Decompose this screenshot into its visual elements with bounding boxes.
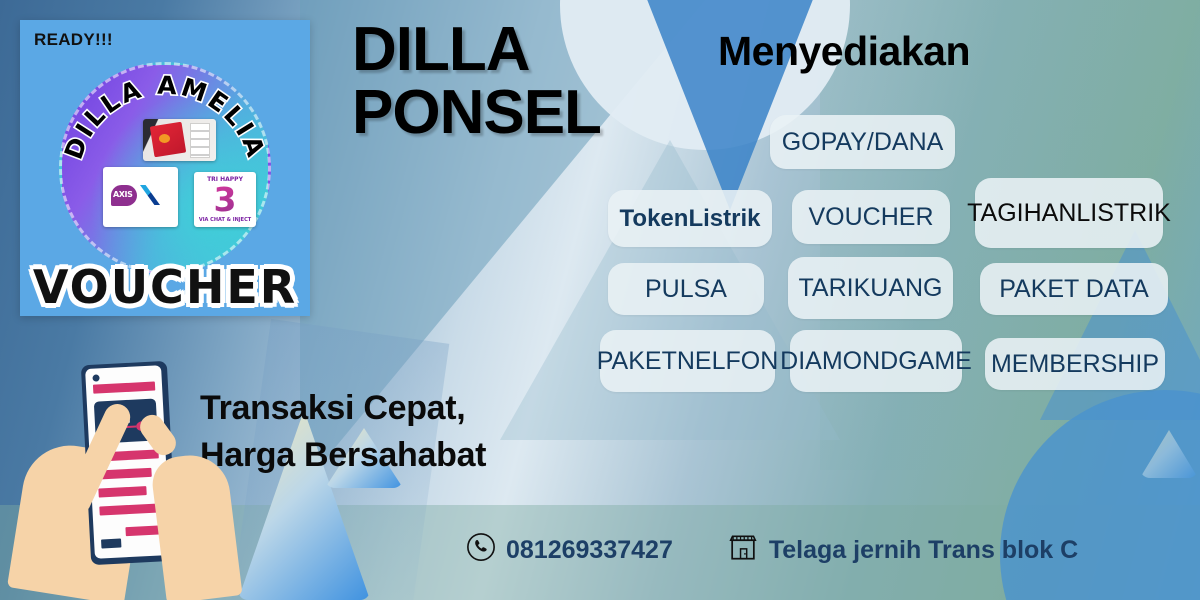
brand-title-line2: PONSEL: [352, 81, 601, 144]
logo-voucher-text: VOUCHER: [33, 260, 297, 314]
promotional-banner: READY!!! DILLA AMELIA AXIS TRI HAPPY 3 V…: [0, 0, 1200, 600]
tagline: Transaksi Cepat, Harga Bersahabat: [200, 385, 486, 479]
service-pill-gopay[interactable]: GOPAY/DANA: [770, 115, 955, 169]
contact-bar: 081269337427 Telaga jernih Trans blok C: [466, 532, 1078, 569]
storefront-icon: [727, 532, 759, 569]
contact-phone[interactable]: 081269337427: [466, 532, 673, 569]
section-heading: Menyediakan: [718, 28, 970, 75]
tagline-line1: Transaksi Cepat,: [200, 385, 486, 432]
service-pill-diamond-game[interactable]: DIAMONDGAME: [790, 330, 962, 392]
tagline-line2: Harga Bersahabat: [200, 432, 486, 479]
address-text: Telaga jernih Trans blok C: [769, 536, 1078, 565]
service-pill-tagihan[interactable]: TAGIHANLISTRIK: [975, 178, 1163, 248]
logo-voucher-word: VOUCHER: [20, 260, 310, 314]
service-pill-paket-nelfon[interactable]: PAKETNELFON: [600, 330, 775, 392]
service-pill-token[interactable]: TokenListrik: [608, 190, 772, 247]
phone-number: 081269337427: [506, 536, 673, 565]
service-pill-membership[interactable]: MEMBERSHIP: [985, 338, 1165, 390]
service-pill-voucher[interactable]: VOUCHER: [792, 190, 950, 244]
brand-title-line1: DILLA: [352, 18, 601, 81]
logo-tile-operators: AXIS: [103, 167, 178, 227]
service-pill-paket-data[interactable]: PAKET DATA: [980, 263, 1168, 315]
logo-tile-voucher-photo: [143, 119, 216, 161]
axis-logo-label: AXIS: [113, 190, 133, 199]
phone-in-hands-illustration: [18, 355, 228, 600]
tri-number-label: 3: [194, 183, 256, 216]
service-pill-tarik[interactable]: TARIKUANG: [788, 257, 953, 319]
tri-bottom-label: VIA CHAT & INJECT: [194, 217, 256, 223]
logo-card: READY!!! DILLA AMELIA AXIS TRI HAPPY 3 V…: [20, 20, 310, 316]
page-title: DILLA PONSEL: [352, 18, 601, 144]
xl-logo-icon: [140, 185, 160, 205]
ready-label: READY!!!: [34, 30, 113, 50]
phone-circle-icon: [466, 532, 496, 569]
logo-tile-tri: TRI HAPPY 3 VIA CHAT & INJECT: [194, 172, 256, 227]
service-pill-pulsa[interactable]: PULSA: [608, 263, 764, 315]
contact-address: Telaga jernih Trans blok C: [727, 532, 1078, 569]
